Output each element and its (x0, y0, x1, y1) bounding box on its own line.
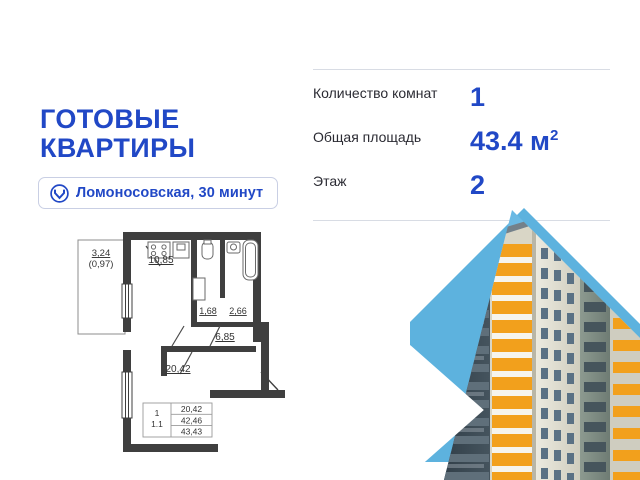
label-balcony-area: 3,24 (92, 248, 111, 259)
label-balcony-reduced: (0,97) (89, 259, 114, 270)
floorplan-drawing[interactable]: 3,24 (0,97) 10,85 1,68 2,66 6,85 20,42 1… (60, 222, 290, 457)
table-apartment-number: 1 (155, 408, 160, 418)
label-hall-area: 6,85 (215, 332, 235, 343)
spec-value-rooms: 1 (470, 82, 485, 112)
building-artwork (384, 200, 640, 480)
spec-value-total-area: 43.4 м2 (470, 126, 558, 156)
apartment-specs-table: Количество комнат 1 Общая площадь 43.4 м… (313, 69, 610, 221)
spec-label-total-area: Общая площадь (313, 126, 470, 146)
spec-label-floor: Этаж (313, 170, 470, 190)
headline-line-2: КВАРТИРЫ (40, 134, 310, 163)
metro-station-label: Ломоносовская, 30 минут (76, 185, 263, 201)
spec-row-total-area: Общая площадь 43.4 м2 (313, 124, 610, 168)
label-living-area: 20,42 (165, 364, 190, 375)
square-meter-exponent: 2 (550, 127, 558, 144)
table-area-without-balcony: 42,46 (181, 415, 203, 425)
metro-station-badge[interactable]: Ломоносовская, 30 минут (38, 177, 278, 209)
bathroom-fixtures (193, 240, 258, 300)
floorplan-summary-table: 1 1.1 20,42 42,46 43,43 (143, 403, 212, 437)
orange-balcony-stack (492, 244, 534, 480)
table-living-total: 20,42 (181, 404, 203, 414)
label-wc-area: 1,68 (199, 306, 217, 316)
label-kitchen-area: 10,85 (148, 255, 173, 266)
spec-value-floor: 2 (470, 170, 485, 200)
table-area-with-balcony: 43,43 (181, 427, 203, 437)
page-title: ГОТОВЫЕ КВАРТИРЫ (40, 105, 310, 163)
headline-line-1: ГОТОВЫЕ (40, 105, 310, 134)
table-apartment-code: 1.1 (151, 419, 163, 429)
label-bath-area: 2,66 (229, 306, 247, 316)
apartment-listing-card: ГОТОВЫЕ КВАРТИРЫ Ломоносовская, 30 минут… (0, 0, 640, 480)
spec-row-rooms: Количество комнат 1 (313, 80, 610, 124)
spb-metro-logo-icon (50, 184, 69, 203)
spec-label-rooms: Количество комнат (313, 82, 470, 102)
